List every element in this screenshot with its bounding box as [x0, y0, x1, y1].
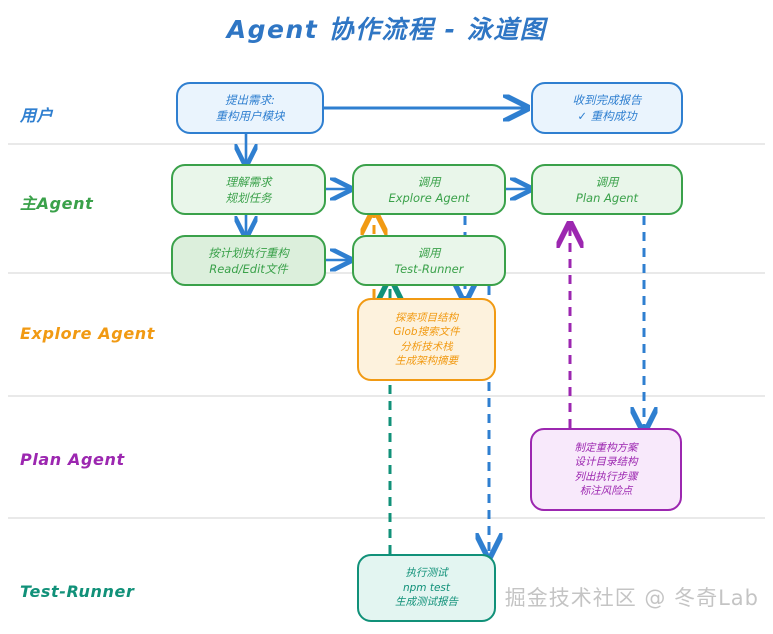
node-plan-work[interactable]: 制定重构方案 设计目录结构 列出执行步骤 标注风险点	[530, 428, 682, 511]
node-call-test-line-1: 调用	[418, 245, 441, 261]
node-user-request[interactable]: 提出需求: 重构用户模块	[176, 82, 324, 134]
node-explore-work[interactable]: 探索项目结构 Glob搜索文件 分析技术栈 生成架构摘要	[357, 298, 496, 381]
node-test-work-line-3: 生成测试报告	[395, 595, 458, 610]
node-plan-work-line-4: 标注风险点	[580, 484, 633, 499]
lane-label-main-agent: 主Agent	[20, 190, 93, 214]
node-call-test-line-2: Test-Runner	[395, 261, 464, 277]
lane-divider-4	[8, 517, 765, 519]
node-user-request-line-1: 提出需求:	[225, 92, 275, 108]
node-test-work[interactable]: 执行测试 npm test 生成测试报告	[357, 554, 496, 622]
node-call-explore-line-2: Explore Agent	[388, 190, 469, 206]
watermark: 掘金技术社区 @ 冬奇Lab	[505, 582, 759, 612]
lane-label-explore-agent: Explore Agent	[20, 324, 155, 343]
node-user-report-line-1: 收到完成报告	[573, 92, 642, 108]
node-plan-work-line-3: 列出执行步骤	[575, 470, 638, 485]
node-understand-line-1: 理解需求	[226, 174, 272, 190]
node-explore-work-line-1: 探索项目结构	[395, 311, 458, 326]
node-call-test-runner[interactable]: 调用 Test-Runner	[352, 235, 506, 286]
node-user-request-line-2: 重构用户模块	[216, 108, 285, 124]
swimlane-diagram: Agent 协作流程 - 泳道图 用户 主Agent Explore Agent…	[0, 0, 773, 634]
node-test-work-line-1: 执行测试	[406, 566, 448, 581]
lane-divider-3	[8, 395, 765, 397]
node-execute-line-2: Read/Edit文件	[209, 261, 288, 277]
node-execute-line-1: 按计划执行重构	[208, 245, 289, 261]
node-understand-requirements[interactable]: 理解需求 规划任务	[171, 164, 326, 215]
lane-divider-1	[8, 143, 765, 145]
node-explore-work-line-2: Glob搜索文件	[393, 325, 459, 340]
node-call-plan-line-1: 调用	[596, 174, 619, 190]
node-execute-refactor[interactable]: 按计划执行重构 Read/Edit文件	[171, 235, 326, 286]
node-explore-work-line-3: 分析技术栈	[400, 340, 453, 355]
node-call-explore-agent[interactable]: 调用 Explore Agent	[352, 164, 506, 215]
node-explore-work-line-4: 生成架构摘要	[395, 354, 458, 369]
node-understand-line-2: 规划任务	[226, 190, 272, 206]
node-plan-work-line-1: 制定重构方案	[575, 441, 638, 456]
node-user-report-line-2: ✓ 重构成功	[577, 108, 636, 124]
node-user-report[interactable]: 收到完成报告 ✓ 重构成功	[531, 82, 683, 134]
node-call-plan-line-2: Plan Agent	[576, 190, 638, 206]
node-call-plan-agent[interactable]: 调用 Plan Agent	[531, 164, 683, 215]
node-test-work-line-2: npm test	[403, 581, 450, 596]
lane-label-test-runner: Test-Runner	[20, 582, 134, 601]
lane-label-user: 用户	[20, 102, 53, 126]
node-call-explore-line-1: 调用	[418, 174, 441, 190]
node-plan-work-line-2: 设计目录结构	[575, 455, 638, 470]
page-title: Agent 协作流程 - 泳道图	[0, 10, 773, 46]
lane-label-plan-agent: Plan Agent	[20, 450, 125, 469]
